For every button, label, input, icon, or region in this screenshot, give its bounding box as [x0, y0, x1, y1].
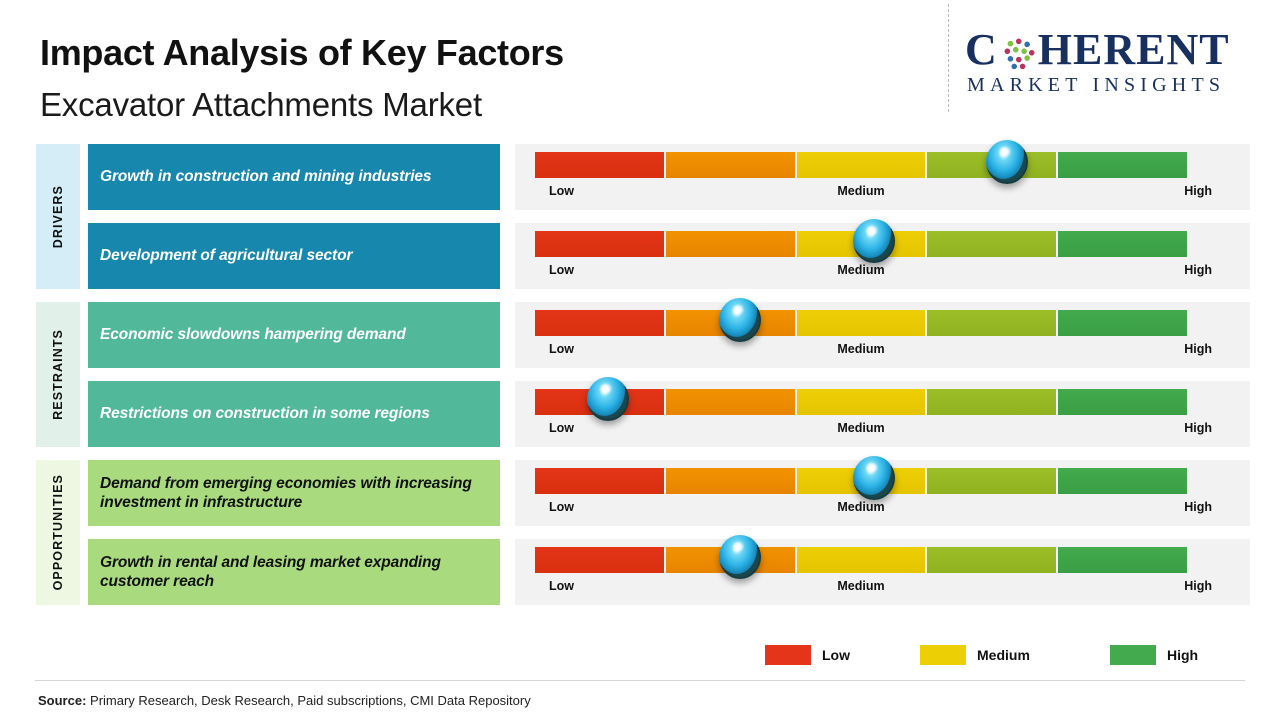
gauge-tick-high: High	[515, 184, 1212, 198]
source-note: Source: Primary Research, Desk Research,…	[38, 693, 531, 708]
footer-divider	[35, 680, 1245, 681]
factor-text: Development of agricultural sector	[100, 246, 352, 265]
page-title: Impact Analysis of Key Factors	[40, 32, 564, 74]
legend-swatch	[765, 645, 811, 665]
category-label-opportunities: OPPORTUNITIES	[36, 460, 80, 605]
gauge-segment-4	[927, 547, 1056, 573]
gauge-segment-1	[535, 231, 664, 257]
gauge-segment-1	[535, 152, 664, 178]
gauge-bar	[535, 389, 1187, 415]
globe-dots-icon	[999, 33, 1037, 71]
impact-marker[interactable]	[719, 298, 761, 342]
factor-text: Demand from emerging economies with incr…	[100, 474, 488, 513]
impact-gauge: LowMediumHigh	[515, 460, 1250, 526]
legend-swatch	[1110, 645, 1156, 665]
factor-text: Economic slowdowns hampering demand	[100, 325, 406, 344]
source-text: Primary Research, Desk Research, Paid su…	[86, 693, 530, 708]
gauge-tick-high: High	[515, 579, 1212, 593]
gauge-segment-5	[1058, 547, 1187, 573]
impact-gauge: LowMediumHigh	[515, 302, 1250, 368]
logo-tagline: MARKET INSIGHTS	[967, 74, 1265, 97]
impact-marker[interactable]	[986, 140, 1028, 184]
gauge-segment-2	[666, 468, 795, 494]
impact-matrix: DRIVERSRESTRAINTSOPPORTUNITIESGrowth in …	[0, 140, 1280, 610]
gauge-segment-5	[1058, 389, 1187, 415]
logo-letters-rest: HERENT	[1038, 24, 1230, 75]
gauge-tick-high: High	[515, 421, 1212, 435]
category-label-text: OPPORTUNITIES	[51, 474, 65, 590]
gauge-segment-5	[1058, 152, 1187, 178]
legend-label: High	[1167, 647, 1198, 663]
impact-marker[interactable]	[719, 535, 761, 579]
factor-text: Restrictions on construction in some reg…	[100, 404, 430, 423]
gauge-segment-4	[927, 389, 1056, 415]
logo-divider	[948, 4, 949, 112]
gauge-segment-3	[797, 152, 926, 178]
impact-gauge: LowMediumHigh	[515, 144, 1250, 210]
source-label: Source:	[38, 693, 86, 708]
gauge-segment-3	[797, 389, 926, 415]
factor-card[interactable]: Demand from emerging economies with incr…	[88, 460, 500, 526]
factor-text: Growth in rental and leasing market expa…	[100, 553, 488, 592]
gauge-segment-2	[666, 152, 795, 178]
impact-marker[interactable]	[587, 377, 629, 421]
impact-gauge: LowMediumHigh	[515, 539, 1250, 605]
category-label-drivers: DRIVERS	[36, 144, 80, 289]
gauge-bar	[535, 152, 1187, 178]
gauge-bar	[535, 310, 1187, 336]
impact-gauge: LowMediumHigh	[515, 381, 1250, 447]
factor-card[interactable]: Economic slowdowns hampering demand	[88, 302, 500, 368]
category-label-text: DRIVERS	[51, 185, 65, 248]
gauge-tick-high: High	[515, 500, 1212, 514]
logo-letter-c: C	[965, 24, 998, 75]
category-label-text: RESTRAINTS	[51, 329, 65, 420]
gauge-segment-4	[927, 468, 1056, 494]
factor-card[interactable]: Growth in construction and mining indust…	[88, 144, 500, 210]
impact-marker[interactable]	[853, 219, 895, 263]
gauge-segment-5	[1058, 468, 1187, 494]
gauge-segment-3	[797, 310, 926, 336]
gauge-segment-5	[1058, 231, 1187, 257]
factor-card[interactable]: Growth in rental and leasing market expa…	[88, 539, 500, 605]
factor-text: Growth in construction and mining indust…	[100, 167, 431, 186]
gauge-bar	[535, 547, 1187, 573]
gauge-segment-2	[666, 231, 795, 257]
page-subtitle: Excavator Attachments Market	[40, 86, 482, 124]
gauge-segment-3	[797, 547, 926, 573]
gauge-segment-4	[927, 310, 1056, 336]
legend-item-high: High	[1110, 645, 1198, 665]
factor-card[interactable]: Restrictions on construction in some reg…	[88, 381, 500, 447]
gauge-tick-high: High	[515, 342, 1212, 356]
gauge-segment-5	[1058, 310, 1187, 336]
factor-card[interactable]: Development of agricultural sector	[88, 223, 500, 289]
gauge-segment-1	[535, 468, 664, 494]
brand-logo: C HERENT MARKET INSIGHTS	[965, 24, 1265, 108]
gauge-segment-2	[666, 389, 795, 415]
category-label-restraints: RESTRAINTS	[36, 302, 80, 447]
header: Impact Analysis of Key Factors Excavator…	[0, 0, 1280, 132]
gauge-segment-1	[535, 310, 664, 336]
legend-swatch	[920, 645, 966, 665]
legend: LowMediumHigh	[765, 645, 1205, 669]
legend-item-medium: Medium	[920, 645, 1030, 665]
legend-label: Medium	[977, 647, 1030, 663]
gauge-tick-high: High	[515, 263, 1212, 277]
gauge-segment-4	[927, 231, 1056, 257]
impact-gauge: LowMediumHigh	[515, 223, 1250, 289]
impact-marker[interactable]	[853, 456, 895, 500]
logo-wordmark: C HERENT	[965, 24, 1265, 74]
gauge-segment-1	[535, 547, 664, 573]
legend-item-low: Low	[765, 645, 850, 665]
legend-label: Low	[822, 647, 850, 663]
